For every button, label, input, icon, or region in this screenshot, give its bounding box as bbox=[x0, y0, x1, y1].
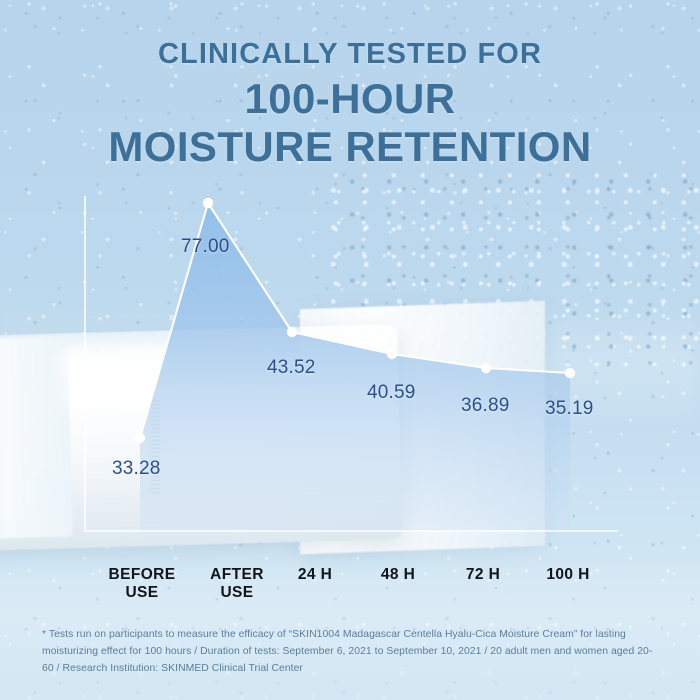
footnote-text: * Tests run on participants to measure t… bbox=[42, 627, 664, 678]
page-title: CLINICALLY TESTED FOR 100-HOUR MOISTURE … bbox=[0, 40, 700, 168]
headline-line-3: MOISTURE RETENTION bbox=[0, 126, 700, 168]
headline-line-2: 100-HOUR bbox=[0, 78, 700, 120]
product-tube-highlight bbox=[59, 340, 391, 409]
headline-line-1: CLINICALLY TESTED FOR bbox=[0, 40, 700, 69]
poster-canvas: CLINICALLY TESTED FOR 100-HOUR MOISTURE … bbox=[0, 0, 700, 700]
